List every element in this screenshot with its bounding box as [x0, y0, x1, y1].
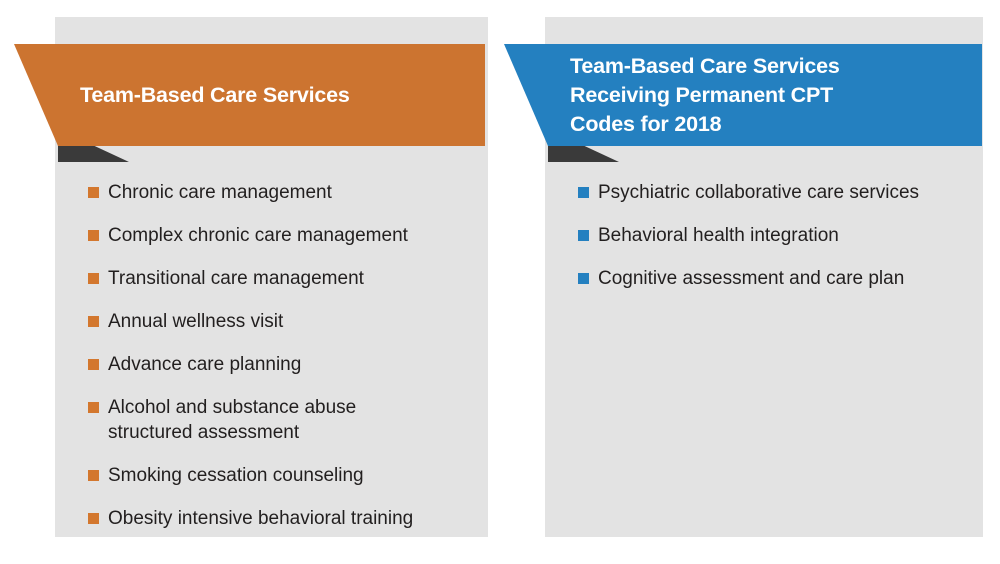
list-item-label: Alcohol and substance abuse structured a… [108, 395, 356, 445]
panel-right-title: Team-Based Care Services Receiving Perma… [570, 52, 840, 139]
list-item: Behavioral health integration [578, 223, 978, 248]
banner-left: Team-Based Care Services [14, 44, 485, 162]
list-item: Transitional care management [88, 266, 478, 291]
square-bullet-blue-icon [578, 230, 589, 241]
panel-left-title: Team-Based Care Services [80, 44, 350, 146]
list-item-label: Cognitive assessment and care plan [598, 266, 904, 291]
list-item-label: Advance care planning [108, 352, 301, 377]
list-item: Advance care planning [88, 352, 478, 377]
list-item: Smoking cessation counseling [88, 463, 478, 488]
list-item-label: Smoking cessation counseling [108, 463, 364, 488]
square-bullet-orange-icon [88, 513, 99, 524]
square-bullet-orange-icon [88, 230, 99, 241]
panel-left-service-list: Chronic care management Complex chronic … [88, 180, 478, 549]
list-item-label: Psychiatric collaborative care services [598, 180, 919, 205]
list-item-label: Chronic care management [108, 180, 332, 205]
list-item: Chronic care management [88, 180, 478, 205]
square-bullet-orange-icon [88, 359, 99, 370]
square-bullet-orange-icon [88, 273, 99, 284]
list-item-label: Obesity intensive behavioral training [108, 506, 413, 531]
list-item-label: Annual wellness visit [108, 309, 283, 334]
list-item: Alcohol and substance abuse structured a… [88, 395, 478, 445]
banner-right: Team-Based Care Services Receiving Perma… [504, 44, 982, 162]
list-item: Obesity intensive behavioral training [88, 506, 478, 531]
list-item: Psychiatric collaborative care services [578, 180, 978, 205]
square-bullet-blue-icon [578, 273, 589, 284]
list-item: Cognitive assessment and care plan [578, 266, 978, 291]
square-bullet-orange-icon [88, 187, 99, 198]
square-bullet-orange-icon [88, 316, 99, 327]
list-item-label: Complex chronic care management [108, 223, 408, 248]
square-bullet-orange-icon [88, 470, 99, 481]
list-item-label: Behavioral health integration [598, 223, 839, 248]
list-item: Complex chronic care management [88, 223, 478, 248]
infographic-canvas: Team-Based Care Services Chronic care ma… [0, 0, 1000, 564]
square-bullet-orange-icon [88, 402, 99, 413]
panel-right-service-list: Psychiatric collaborative care services … [578, 180, 978, 309]
list-item: Annual wellness visit [88, 309, 478, 334]
square-bullet-blue-icon [578, 187, 589, 198]
list-item-label: Transitional care management [108, 266, 364, 291]
